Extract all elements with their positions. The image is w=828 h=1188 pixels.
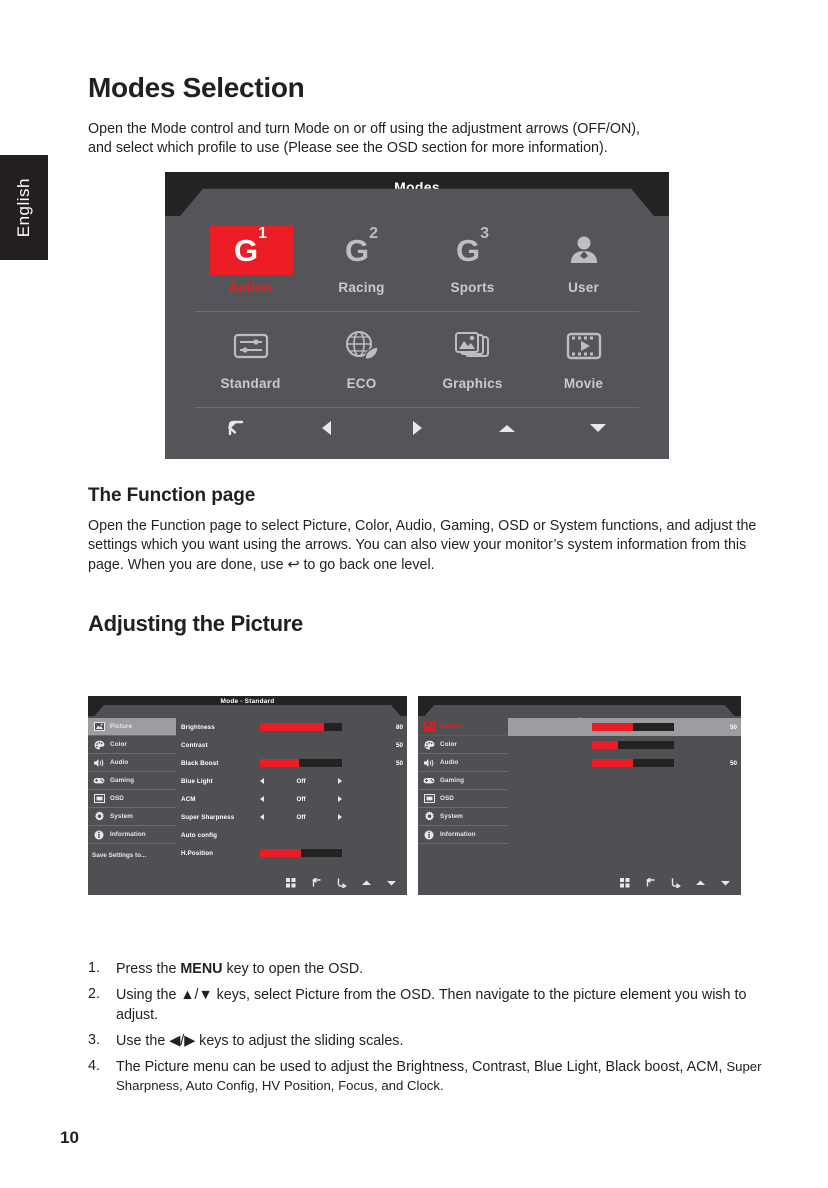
mode-item-action[interactable]: G1 Action xyxy=(195,216,306,311)
picture-icon xyxy=(92,721,106,733)
modes-osd-titlebar: Modes xyxy=(165,172,669,216)
language-tab: English xyxy=(0,155,48,260)
page-content: Modes Selection Open the Mode control an… xyxy=(88,0,768,159)
info-icon xyxy=(422,829,436,841)
option-row-2[interactable] xyxy=(508,736,741,754)
sidebar-item-picture[interactable]: Picture xyxy=(418,718,508,736)
picture-icon xyxy=(422,721,436,733)
modes-row-2: Standard ECO xyxy=(195,312,639,408)
modes-grid: G1 Action G2 Racing G3 Sports xyxy=(165,216,669,408)
option-row-auto-config[interactable]: Auto config xyxy=(176,826,407,844)
sidebar-label-color: Color xyxy=(110,741,127,748)
picture-osd-left: Mode - Standard Picture Color Audio xyxy=(88,696,407,895)
modes-nav-bar xyxy=(165,408,669,448)
option-value-super-sharpness: Off xyxy=(296,814,305,821)
mode-item-user[interactable]: User xyxy=(528,216,639,311)
up-arrow-icon[interactable] xyxy=(694,877,706,889)
step-1: 1. Press the MENU key to open the OSD. xyxy=(88,960,768,979)
option-row-highlighted[interactable]: 50 xyxy=(508,718,741,736)
grid-icon[interactable] xyxy=(619,877,631,889)
eco-globe-icon xyxy=(320,321,404,371)
mode-label-racing: Racing xyxy=(338,280,384,295)
sidebar-label-system: System xyxy=(110,813,133,820)
enter-arrow-icon[interactable] xyxy=(335,877,347,889)
mode-item-eco[interactable]: ECO xyxy=(306,312,417,407)
right-arrow-icon[interactable] xyxy=(338,814,342,820)
sidebar-item-information[interactable]: Information xyxy=(418,826,508,844)
picture-osd-left-titlebar: Mode - Standard xyxy=(88,696,407,716)
toggle-super-sharpness[interactable]: Off xyxy=(260,814,342,821)
sidebar-label-audio: Audio xyxy=(110,759,128,766)
option-value-brightness: 80 xyxy=(381,724,407,731)
step-1-number: 1. xyxy=(88,960,116,979)
g1-icon: G1 xyxy=(209,225,293,275)
step-4: 4. The Picture menu can be used to adjus… xyxy=(88,1058,768,1097)
mode-label-movie: Movie xyxy=(564,376,603,391)
sidebar-item-color[interactable]: Color xyxy=(88,736,176,754)
film-icon xyxy=(542,321,626,371)
option-label-black-boost: Black Boost xyxy=(176,760,260,767)
function-page-section: The Function page Open the Function page… xyxy=(88,485,768,637)
left-arrow-icon[interactable] xyxy=(260,814,264,820)
sidebar-item-osd[interactable]: OSD xyxy=(88,790,176,808)
mode-label-user: User xyxy=(568,280,599,295)
mode-item-movie[interactable]: Movie xyxy=(528,312,639,407)
left-arrow-icon[interactable] xyxy=(260,778,264,784)
page-title: Modes Selection xyxy=(88,0,768,104)
gear-icon xyxy=(92,811,106,823)
toggle-blue-light[interactable]: Off xyxy=(260,778,342,785)
mode-label-eco: ECO xyxy=(347,376,377,391)
picture-osd-left-title: Mode - Standard xyxy=(221,698,275,705)
picture-osd-left-body: Picture Color Audio Gaming xyxy=(88,716,407,872)
sliders-icon xyxy=(209,321,293,371)
function-page-heading: The Function page xyxy=(88,485,768,507)
down-arrow-icon[interactable] xyxy=(385,877,397,889)
intro-paragraph: Open the Mode control and turn Mode on o… xyxy=(88,120,768,159)
modes-osd-panel: Modes G1 Action G2 Racing G3 Sports xyxy=(165,172,669,459)
sidebar-item-osd[interactable]: OSD xyxy=(418,790,508,808)
option-label-acm: ACM xyxy=(176,796,260,803)
step-4-text: The Picture menu can be used to adjust t… xyxy=(116,1058,768,1097)
option-label-super-sharpness: Super Sharpness xyxy=(176,814,260,821)
slider-black-boost[interactable] xyxy=(260,759,342,767)
mode-item-racing[interactable]: G2 Racing xyxy=(306,216,417,311)
picture-osd-right-titlebar xyxy=(418,696,741,716)
osd-icon xyxy=(422,793,436,805)
step-3-number: 3. xyxy=(88,1032,116,1051)
save-settings-item[interactable]: Save Settings to... xyxy=(88,852,176,859)
toggle-acm[interactable]: Off xyxy=(260,796,342,803)
back-arrow-icon[interactable] xyxy=(310,877,322,889)
g2-icon: G2 xyxy=(320,225,404,275)
modes-osd-title: Modes xyxy=(394,179,440,195)
sidebar-item-information[interactable]: Information xyxy=(88,826,176,844)
option-row-h-position[interactable]: H.Position xyxy=(176,844,407,862)
intro-line-1: Open the Mode control and turn Mode on o… xyxy=(88,121,640,137)
picture-osd-left-footer xyxy=(88,872,407,894)
option-label-brightness: Brightness xyxy=(176,724,260,731)
language-tab-label: English xyxy=(14,178,34,237)
sidebar-label-osd-gaming: Gaming xyxy=(110,777,134,784)
user-icon xyxy=(542,225,626,275)
sidebar-item-gaming[interactable]: Gaming xyxy=(418,772,508,790)
sidebar-item-color[interactable]: Color xyxy=(418,736,508,754)
step-1-text: Press the MENU key to open the OSD. xyxy=(116,960,363,979)
mode-label-graphics: Graphics xyxy=(442,376,502,391)
right-arrow-icon[interactable] xyxy=(372,419,462,437)
gamepad-icon xyxy=(92,775,106,787)
slider-row-1[interactable] xyxy=(592,723,674,731)
option-row-super-sharpness[interactable]: Super Sharpness Off xyxy=(176,808,407,826)
sidebar-item-audio[interactable]: Audio xyxy=(88,754,176,772)
option-value-row-1: 50 xyxy=(715,724,741,731)
picture-osd-right-sidebar: Picture Color Audio Gaming xyxy=(418,716,508,872)
gear-icon xyxy=(422,811,436,823)
mode-label-sports: Sports xyxy=(451,280,495,295)
option-value-contrast: 50 xyxy=(381,742,407,749)
option-row-contrast[interactable]: Contrast 50 xyxy=(176,736,407,754)
sidebar-label-picture: Picture xyxy=(440,723,462,730)
intro-line-2: and select which profile to use (Please … xyxy=(88,140,608,156)
option-value-acm: Off xyxy=(296,796,305,803)
slider-brightness[interactable] xyxy=(260,723,342,731)
sidebar-item-picture[interactable]: Picture xyxy=(88,718,176,736)
sidebar-label-information: Information xyxy=(110,831,146,838)
up-arrow-icon[interactable] xyxy=(462,421,552,435)
option-label-blue-light: Blue Light xyxy=(176,778,260,785)
function-page-paragraph: Open the Function page to select Picture… xyxy=(88,517,768,575)
images-icon xyxy=(431,321,515,371)
left-arrow-icon[interactable] xyxy=(260,796,264,802)
step-2-number: 2. xyxy=(88,986,116,1025)
sidebar-label-gaming: Gaming xyxy=(440,777,464,784)
option-row-brightness[interactable]: Brightness 80 xyxy=(176,718,407,736)
sidebar-label-color: Color xyxy=(440,741,457,748)
osd-icon xyxy=(92,793,106,805)
step-2: 2. Using the ▲/▼ keys, select Picture fr… xyxy=(88,986,768,1025)
sidebar-label-osd: OSD xyxy=(110,795,124,802)
right-arrow-icon[interactable] xyxy=(338,778,342,784)
option-row-3[interactable]: 50 xyxy=(508,754,741,772)
option-row-black-boost[interactable]: Black Boost 50 xyxy=(176,754,407,772)
option-value-blue-light: Off xyxy=(296,778,305,785)
sidebar-item-system[interactable]: System xyxy=(418,808,508,826)
picture-osd-left-options: Brightness 80 Contrast 50 Black Boost 50… xyxy=(176,716,407,872)
speaker-icon xyxy=(92,757,106,769)
sidebar-item-system[interactable]: System xyxy=(88,808,176,826)
down-arrow-icon[interactable] xyxy=(553,421,643,435)
option-label-h-position: H.Position xyxy=(176,850,260,857)
palette-icon xyxy=(422,739,436,751)
step-3: 3. Use the ◀/▶ keys to adjust the slidin… xyxy=(88,1032,768,1051)
instruction-steps: 1. Press the MENU key to open the OSD. 2… xyxy=(88,960,768,1104)
option-value-row-3: 50 xyxy=(715,760,741,767)
sidebar-label-information: Information xyxy=(440,831,476,838)
palette-icon xyxy=(92,739,106,751)
info-icon xyxy=(92,829,106,841)
sidebar-label-system: System xyxy=(440,813,463,820)
step-2-text: Using the ▲/▼ keys, select Picture from … xyxy=(116,986,768,1025)
adjusting-picture-heading: Adjusting the Picture xyxy=(88,597,768,637)
modes-row-1: G1 Action G2 Racing G3 Sports xyxy=(195,216,639,312)
back-arrow-icon[interactable] xyxy=(644,877,656,889)
mode-label-standard: Standard xyxy=(220,376,280,391)
sidebar-item-audio[interactable]: Audio xyxy=(418,754,508,772)
option-row-blue-light[interactable]: Blue Light Off xyxy=(176,772,407,790)
down-arrow-icon[interactable] xyxy=(719,877,731,889)
page-number: 10 xyxy=(60,1128,79,1148)
option-label-contrast: Contrast xyxy=(176,742,260,749)
slider-h-position[interactable] xyxy=(260,849,342,857)
slider-contrast[interactable] xyxy=(260,741,342,749)
slider-row-2[interactable] xyxy=(592,741,674,749)
sidebar-label-picture: Picture xyxy=(110,723,132,730)
g3-icon: G3 xyxy=(431,225,515,275)
up-arrow-icon[interactable] xyxy=(360,877,372,889)
back-arrow-icon[interactable] xyxy=(191,418,281,438)
right-arrow-icon[interactable] xyxy=(338,796,342,802)
mode-item-graphics[interactable]: Graphics xyxy=(417,312,528,407)
mode-label-action: Action xyxy=(229,280,272,295)
mode-item-standard[interactable]: Standard xyxy=(195,312,306,407)
slider-row-3[interactable] xyxy=(592,759,674,767)
option-row-acm[interactable]: ACM Off xyxy=(176,790,407,808)
picture-osd-right-footer xyxy=(418,872,741,894)
gamepad-icon xyxy=(422,775,436,787)
picture-osd-right-body: Picture Color Audio Gaming xyxy=(418,716,741,872)
picture-osd-left-sidebar: Picture Color Audio Gaming xyxy=(88,716,176,872)
option-label-auto-config: Auto config xyxy=(176,832,260,839)
option-value-black-boost: 50 xyxy=(381,760,407,767)
step-3-text: Use the ◀/▶ keys to adjust the sliding s… xyxy=(116,1032,403,1051)
grid-icon[interactable] xyxy=(285,877,297,889)
picture-osd-right: Picture Color Audio Gaming xyxy=(418,696,741,895)
picture-osd-right-options: 50 50 xyxy=(508,716,741,872)
sidebar-item-gaming[interactable]: Gaming xyxy=(88,772,176,790)
step-4-number: 4. xyxy=(88,1058,116,1097)
mode-item-sports[interactable]: G3 Sports xyxy=(417,216,528,311)
left-arrow-icon[interactable] xyxy=(281,419,371,437)
enter-arrow-icon[interactable] xyxy=(669,877,681,889)
sidebar-label-osd: OSD xyxy=(440,795,454,802)
sidebar-label-audio: Audio xyxy=(440,759,458,766)
speaker-icon xyxy=(422,757,436,769)
